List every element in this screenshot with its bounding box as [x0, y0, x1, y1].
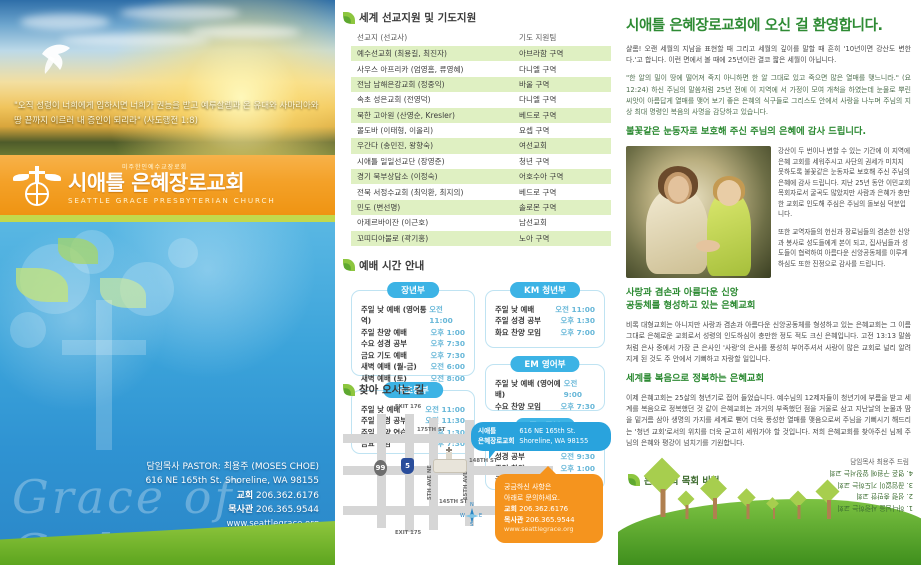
cell-team: 노아 구역: [513, 231, 611, 246]
cell-field: 아제르바이잔 (이근호): [351, 215, 513, 230]
heart-tree: [698, 479, 732, 519]
church-phone-label: 교회: [237, 491, 254, 501]
tag-office-label: 목사관: [504, 516, 523, 524]
tag-office-value: 206.365.9544: [526, 516, 575, 524]
service-name: 화요 찬양 모임: [495, 327, 541, 338]
heading-community-line1: 사랑과 겸손과 아름다운 신앙: [626, 287, 738, 298]
service-time: 오후 7:30: [430, 338, 465, 349]
table-row: 속초 성은교회 (전영덕)다니엘 구역: [351, 92, 611, 107]
dove-icon: [36, 36, 78, 76]
logo-korean-name: 시애틀 은혜장로교회: [68, 171, 276, 195]
schedule-row: 주일 성경 공부오후 1:30: [495, 315, 595, 326]
intro-paragraph: 샬롬! 오랜 세월의 지남을 표현할 때 그리고 세월의 깊이를 말할 때 흔히…: [626, 44, 911, 66]
service-name: 주일 찬양 예배: [361, 327, 407, 338]
schedule-list: 주일 낮 예배 (영어통역)오전 11:00주일 찬양 예배오후 1:00수요 …: [352, 291, 474, 391]
cell-team: 바울 구역: [513, 77, 611, 92]
table-row: 꼬띠디아불로 (곽기홍)노아 구역: [351, 231, 611, 246]
table-row: 몰도바 (이태형, 이올리)요셉 구역: [351, 123, 611, 138]
cell-field: 북한 고아원 (산영순, Kresler): [351, 108, 513, 123]
brochure-page: "오직 성령이 너희에게 임하시면 너희가 권능을 받고 예루살렘과 온 유대와…: [0, 0, 921, 565]
cell-team: 남선교회: [513, 215, 611, 230]
left-panel: "오직 성령이 너희에게 임하시면 너희가 권능을 받고 예루살렘과 온 유대와…: [0, 0, 335, 565]
schedule-row: 주일 낮 예배 (영어통역)오전 11:00: [361, 304, 465, 327]
leaf-icon: [343, 259, 355, 271]
cross-globe-wings-emblem-icon: [14, 162, 60, 208]
cell-field: 속초 성은교회 (전영덕): [351, 92, 513, 107]
service-time: 오후 7:30: [430, 350, 465, 361]
vision-item: 2. 성령 충만한 교회: [753, 490, 913, 502]
table-row: 전북 서정수교회 (최익환, 최지의)베드로 구역: [351, 184, 611, 199]
leaf-icon: [343, 384, 355, 396]
schedule-section-header: 예배 시간 안내: [343, 258, 618, 273]
cell-team: 베드로 구역: [513, 108, 611, 123]
contact-block: 담임목사 PASTOR: 최용주 (MOSES CHOE) 616 NE 165…: [59, 460, 319, 531]
office-phone-label: 목사관: [228, 505, 253, 515]
schedule-row: 새벽 예배 (월-금)오전 6:00: [361, 361, 465, 372]
callout-address-line2: Shoreline, WA 98155: [519, 437, 588, 447]
cell-team: 베드로 구역: [513, 184, 611, 199]
cell-team: 어호수아 구역: [513, 169, 611, 184]
directions-section-title: 찾아 오시는 길: [359, 382, 424, 397]
callout-name-line1: 시애틀: [478, 427, 514, 437]
service-name: 금요 기도 예배: [361, 350, 407, 361]
table-row: 사우스 아프리카 (엄영홈, 류영혜)다니엘 구역: [351, 61, 611, 76]
cell-team: 아브라함 구역: [513, 46, 611, 61]
verse-paragraph: "한 알의 밀이 땅에 떨어져 죽지 아니하면 한 알 그대로 있고 죽으면 많…: [626, 73, 911, 118]
col-header-field: 선교지 (선교사): [351, 30, 513, 46]
tag-office-phone: 목사관 206.365.9544: [504, 515, 594, 526]
cell-team: 솔로몬 구역: [513, 200, 611, 215]
schedule-row: 주일 낮 예배 (영어예배)오전 9:00: [495, 378, 595, 401]
vision-items-list: 1. 하나님을 사랑하는 교회2. 성령 충만한 교회3. 끊임없이 기도하는 …: [753, 466, 913, 513]
table-row: 전남 남해은강교회 (정중익)바울 구역: [351, 77, 611, 92]
heart-tree: [676, 493, 698, 519]
table-header-row: 선교지 (선교사) 기도 지원팀: [351, 30, 611, 46]
schedule-card-adult: 장년부주일 낮 예배 (영어통역)오전 11:00주일 찬양 예배오후 1:00…: [351, 290, 475, 376]
table-row: 예수선교회 (최용길, 최진자)아브라함 구역: [351, 46, 611, 61]
vision-item: 3. 끊임없이 기도하는 교회: [753, 478, 913, 490]
right-panel: 시애틀 은혜장로교회에 오신 걸 환영합니다. 샬롬! 오랜 세월의 지남을 표…: [618, 0, 921, 565]
col-header-team: 기도 지원팀: [513, 30, 611, 46]
cell-field: 사우스 아프리카 (엄영홈, 류영혜): [351, 61, 513, 76]
tag-church-phone: 교회 206.362.6176: [504, 504, 594, 515]
cell-field: 경기 북부상담소 (이정숙): [351, 169, 513, 184]
service-name: 주일 낮 예배: [495, 304, 534, 315]
pastor-line: 담임목사 PASTOR: 최용주 (MOSES CHOE): [59, 460, 319, 474]
cell-field: 민도 (변선명): [351, 200, 513, 215]
location-map[interactable]: 99 5 EXIT 176 175TH ST 148TH ST 145TH ST…: [343, 400, 613, 540]
service-time: 오후 7:00: [560, 327, 595, 338]
heading-thanks: 불꽃같은 눈동자로 보호해 주신 주님의 은혜에 감사 드립니다.: [626, 125, 913, 138]
heading-world-gospel: 세계를 복음으로 정복하는 은혜교회: [626, 372, 913, 385]
table-row: 우간다 (송민진, 왕향숙)여선교회: [351, 138, 611, 153]
cell-field: 예수선교회 (최용길, 최진자): [351, 46, 513, 61]
church-phone-line: 교회 206.362.6176: [59, 489, 319, 503]
shield-wa-number: 99: [376, 464, 386, 472]
table-row: 시애틀 일일선교단 (장영준)청년 구역: [351, 154, 611, 169]
cell-team: 다니엘 구역: [513, 92, 611, 107]
schedule-list: 주일 낮 예배오전 11:00주일 성경 공부오후 1:30화요 찬양 모임오후…: [486, 291, 604, 345]
schedule-row: 주일 낮 예배오전 11:00: [495, 304, 595, 315]
church-address-callout: 시애틀 은혜장로교회 616 NE 165th St. Shoreline, W…: [471, 422, 611, 451]
vision-item: 4. 영혼 구원에 앞장서는 교회: [753, 466, 913, 478]
service-time: 오전 11:00: [555, 304, 595, 315]
table-row: 민도 (변선명)솔로몬 구역: [351, 200, 611, 215]
schedule-card-km-young-adult: KM 청년부주일 낮 예배오전 11:00주일 성경 공부오후 1:30화요 찬…: [485, 290, 605, 348]
compass-rose-icon: N E S W: [461, 504, 483, 528]
cloud-shape: [190, 26, 300, 38]
body-paragraph-3: 이제 은혜고회는 25살의 청년기로 접어 들었습니다. 예수님의 12제자들이…: [626, 393, 911, 449]
address-line: 616 NE 165th St. Shoreline, WA 98155: [59, 474, 319, 488]
bubble-shape: [10, 312, 46, 348]
jesus-with-child-photo: [626, 146, 771, 278]
lime-divider: [0, 215, 335, 222]
tag-church-label: 교회: [504, 505, 517, 513]
tag-church-value: 206.362.6176: [519, 505, 568, 513]
office-phone-value: 206.365.9544: [256, 505, 319, 515]
schedule-section-title: 예배 시간 안내: [359, 258, 424, 273]
middle-panel: 세계 선교지원 및 기도지원 선교지 (선교사) 기도 지원팀 예수선교회 (최…: [335, 0, 618, 565]
body-paragraph-2: 비록 대형교회는 아니지만 사랑과 겸손과 아름다운 신앙공동체를 형성하고 있…: [626, 320, 911, 365]
schedule-row: 주일 찬양 예배오후 1:00: [361, 327, 465, 338]
schedule-row: 금요 기도 예배오후 7:30: [361, 350, 465, 361]
schedule-card-title: 장년부: [387, 282, 439, 298]
service-time: 오전 11:00: [429, 304, 465, 327]
side-paragraph-1: 강산이 두 번이나 변할 수 있는 기간에 이 지역에 은혜 고회를 세워주시고…: [778, 146, 911, 220]
cell-team: 요셉 구역: [513, 123, 611, 138]
mission-section-header: 세계 선교지원 및 기도지원: [343, 10, 618, 25]
side-text-column: 강산이 두 번이나 변할 수 있는 기간에 이 지역에 은혜 고회를 세워주시고…: [778, 146, 911, 278]
cell-field: 전남 남해은강교회 (정중익): [351, 77, 513, 92]
mission-section-title: 세계 선교지원 및 기도지원: [359, 10, 476, 25]
table-row: 아제르바이잔 (이근호)남선교회: [351, 215, 611, 230]
service-name: 주일 성경 공부: [495, 315, 541, 326]
service-name: 수요 성경 공부: [361, 338, 407, 349]
cloud-shape: [120, 6, 240, 20]
cell-team: 다니엘 구역: [513, 61, 611, 76]
map-label-exit175: EXIT 175: [395, 530, 421, 536]
heading-community: 사랑과 겸손과 아름다운 신앙 공동체를 형성하고 있는 은혜교회: [626, 286, 913, 312]
schedule-card-title: KM 청년부: [510, 282, 580, 298]
vision-illustration: 1. 하나님을 사랑하는 교회2. 성령 충만한 교회3. 끊임없이 기도하는 …: [618, 453, 921, 565]
cell-team: 청년 구역: [513, 154, 611, 169]
contact-orange-tag: 궁금하신 사항은 아래로 문의하세요. 교회 206.362.6176 목사관 …: [495, 474, 603, 543]
welcome-title: 시애틀 은혜장로교회에 오신 걸 환영합니다.: [626, 14, 921, 35]
cell-field: 꼬띠디아불로 (곽기홍): [351, 231, 513, 246]
heading-community-line2: 공동체를 형성하고 있는 은혜교회: [626, 300, 755, 311]
church-building-icon: [429, 452, 469, 474]
service-name: 새벽 예배 (월-금): [361, 361, 417, 372]
directions-section-header: 찾아 오시는 길: [343, 382, 424, 397]
table-row: 북한 고아원 (산영순, Kresler)베드로 구역: [351, 108, 611, 123]
map-label-175th: 175TH ST: [417, 427, 445, 433]
scripture-quote: "오직 성령이 너희에게 임하시면 너희가 권능을 받고 예루살렘과 온 유대와…: [0, 95, 335, 153]
cell-team: 여선교회: [513, 138, 611, 153]
shield-i5-number: 5: [405, 462, 410, 470]
cell-field: 우간다 (송민진, 왕향숙): [351, 138, 513, 153]
side-paragraph-2: 또한 교역자들의 헌신과 장로님들의 겸손한 신앙과 봉사로 성도들에게 본이 …: [778, 227, 911, 269]
cloud-shape: [60, 34, 210, 46]
service-time: 오후 1:00: [430, 327, 465, 338]
mission-support-table: 선교지 (선교사) 기도 지원팀 예수선교회 (최용길, 최진자)아브라함 구역…: [351, 30, 611, 246]
service-name: 주일 낮 예배 (영어통역): [361, 304, 429, 327]
cloud-shape: [20, 14, 110, 30]
service-time: 오전 6:00: [430, 361, 465, 372]
service-time: 오후 1:30: [560, 315, 595, 326]
tag-line2: 아래로 문의하세요.: [504, 493, 594, 504]
logo-english-name: SEATTLE GRACE PRESBYTERIAN CHURCH: [68, 196, 276, 205]
photo-and-text-row: 강산이 두 번이나 변할 수 있는 기간에 이 지역에 은혜 고회를 세워주시고…: [626, 146, 911, 278]
schedule-card-title: EM 영어부: [510, 356, 579, 372]
cell-field: 몰도바 (이태형, 이올리): [351, 123, 513, 138]
highway-99-shield-icon: 99: [374, 460, 387, 476]
tag-line1: 궁금하신 사항은: [504, 482, 594, 493]
map-label-exit176: EXIT 176: [395, 404, 421, 410]
church-logo-band: 미주한인예수교장로회 시애틀 은혜장로교회 SEATTLE GRACE PRES…: [0, 155, 335, 215]
schedule-row: 수요 성경 공부오후 7:30: [361, 338, 465, 349]
callout-name-line2: 은혜장로교회: [478, 437, 514, 447]
cross-watermark: [96, 300, 112, 450]
cell-field: 전북 서정수교회 (최익환, 최지의): [351, 184, 513, 199]
service-name: 주일 낮 예배 (영어예배): [495, 378, 564, 401]
highway-i5-shield-icon: 5: [401, 458, 414, 474]
tag-website[interactable]: www.seattlegrace.org: [504, 525, 594, 535]
vision-item: 1. 하나님을 사랑하는 교회: [753, 501, 913, 513]
church-phone-value: 206.362.6176: [256, 491, 319, 501]
service-time: 오전 9:00: [564, 378, 595, 401]
office-phone-line: 목사관 206.365.9544: [59, 503, 319, 517]
bubble-shape: [168, 238, 198, 268]
schedule-row: 화요 찬양 모임오후 7:00: [495, 327, 595, 338]
cell-field: 시애틀 일일선교단 (장영준): [351, 154, 513, 169]
callout-address-line1: 616 NE 165th St.: [519, 427, 588, 437]
leaf-icon: [343, 12, 355, 24]
table-row: 경기 북부상담소 (이정숙)어호수아 구역: [351, 169, 611, 184]
